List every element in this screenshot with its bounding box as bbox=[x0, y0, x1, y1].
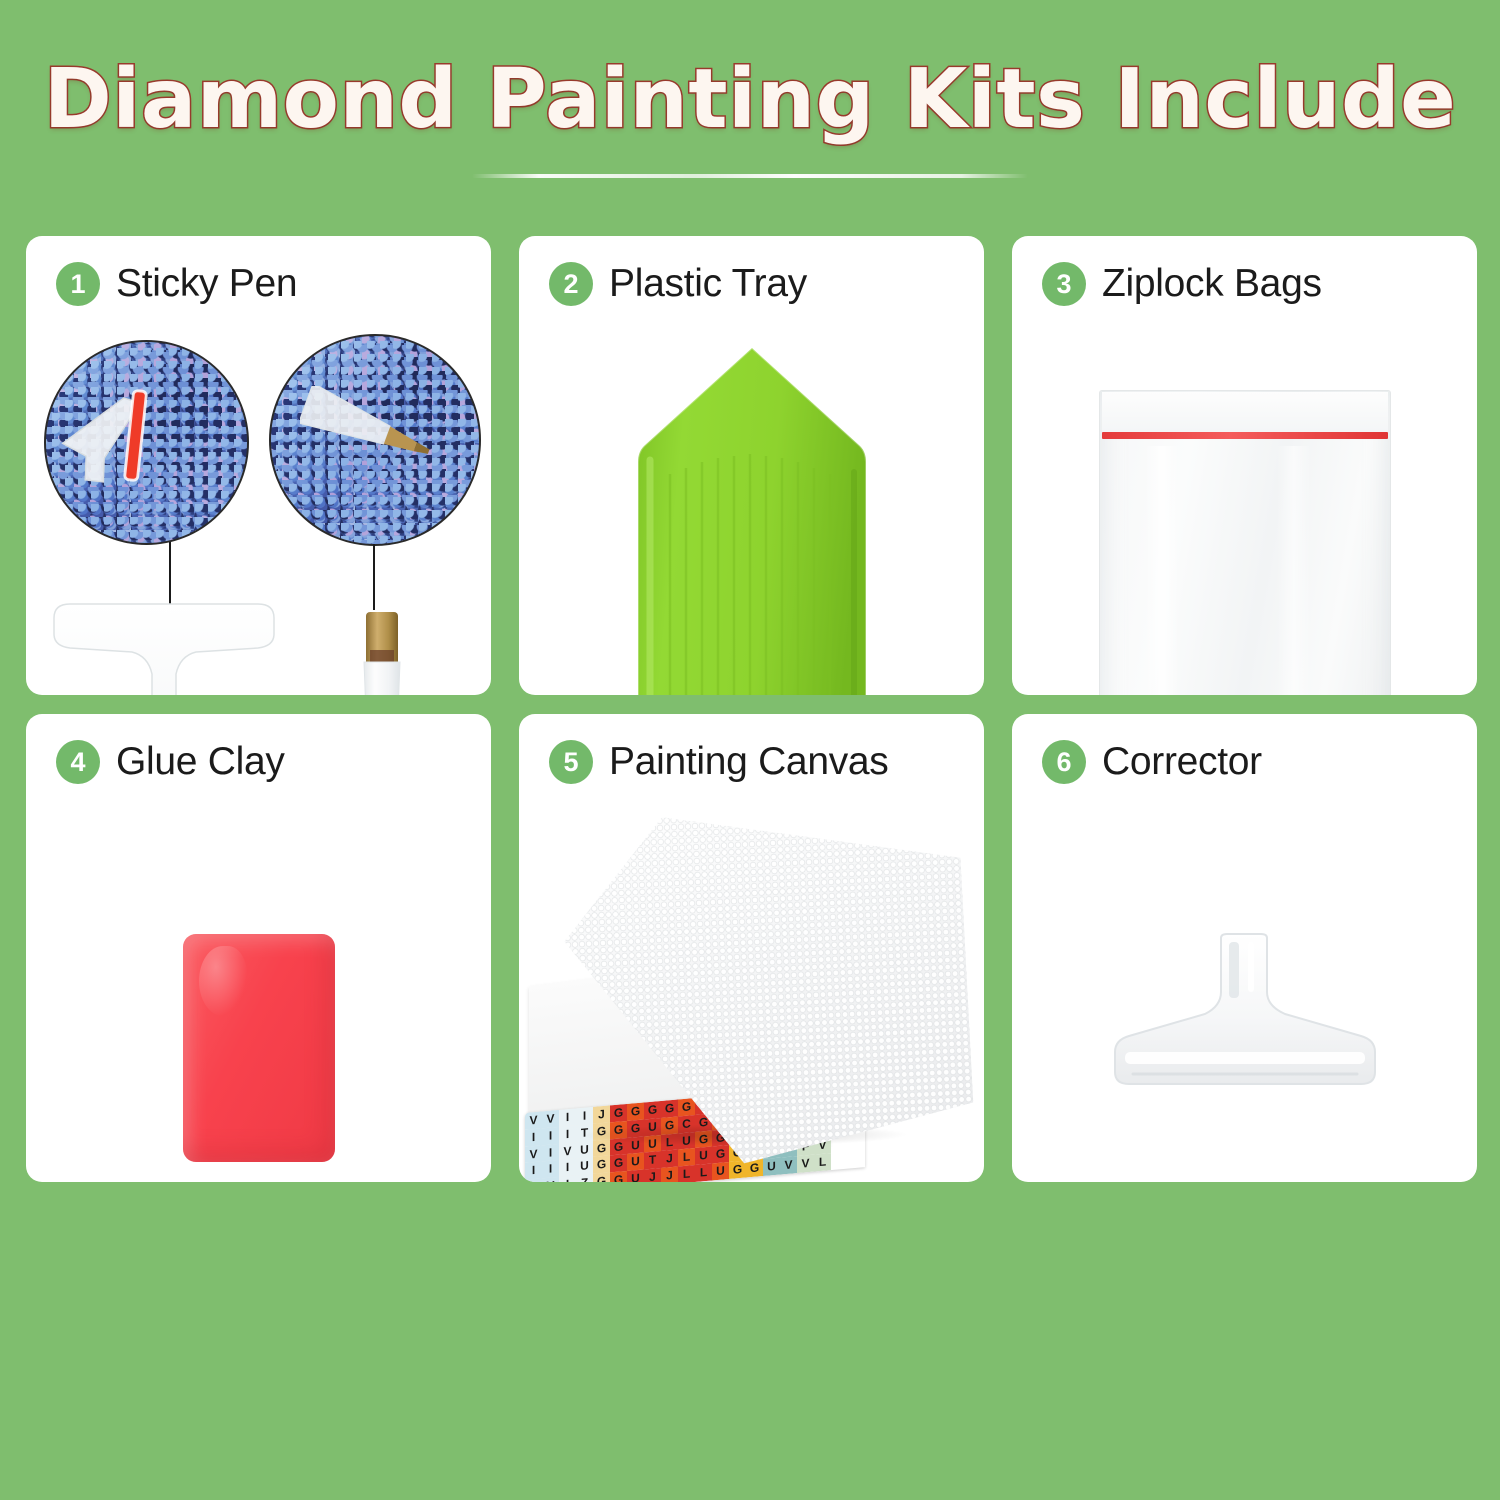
symbol-grid-cell: G bbox=[610, 1171, 627, 1182]
symbol-grid-cell: U bbox=[576, 1157, 593, 1175]
symbol-grid-cell: G bbox=[593, 1156, 610, 1174]
card-number-badge: 4 bbox=[56, 740, 100, 784]
card-header: 2 Plastic Tray bbox=[549, 262, 807, 306]
symbol-grid-cell: J bbox=[593, 1105, 610, 1123]
symbol-grid-cell: T bbox=[644, 1151, 661, 1169]
card-label: Corrector bbox=[1102, 740, 1262, 784]
kit-card-glue-clay[interactable]: 4 Glue Clay bbox=[26, 714, 491, 1182]
symbol-grid-cell: G bbox=[729, 1161, 746, 1179]
header: Diamond Painting Kits Include bbox=[0, 0, 1500, 212]
symbol-grid-cell: L bbox=[678, 1165, 695, 1182]
bag-sheen bbox=[1145, 446, 1179, 695]
leader-line bbox=[169, 542, 171, 604]
card-header: 6 Corrector bbox=[1042, 740, 1262, 784]
symbol-grid-cell: G bbox=[610, 1154, 627, 1172]
symbol-grid-cell: J bbox=[661, 1150, 678, 1168]
card-number-badge: 6 bbox=[1042, 740, 1086, 784]
card-label: Sticky Pen bbox=[116, 262, 297, 306]
plastic-tray-icon bbox=[614, 342, 890, 695]
magnifier-corrector-icon bbox=[44, 340, 249, 545]
symbol-grid-cell: I bbox=[576, 1107, 593, 1125]
card-label: Glue Clay bbox=[116, 740, 285, 784]
card-header: 5 Painting Canvas bbox=[549, 740, 889, 784]
card-number-badge: 1 bbox=[56, 262, 100, 306]
symbol-grid-cell: J bbox=[661, 1167, 678, 1182]
kit-card-sticky-pen[interactable]: 1 Sticky Pen bbox=[26, 236, 491, 695]
kit-card-plastic-tray[interactable]: 2 Plastic Tray bbox=[519, 236, 984, 695]
bag-zip-seal bbox=[1102, 432, 1388, 439]
symbol-grid-cell: I bbox=[559, 1108, 576, 1126]
card-label: Painting Canvas bbox=[609, 740, 889, 784]
corrector-tool-closeup-icon bbox=[58, 386, 203, 499]
symbol-grid-cell: G bbox=[678, 1098, 695, 1116]
symbol-grid-cell: I bbox=[525, 1179, 542, 1182]
card-header: 1 Sticky Pen bbox=[56, 262, 297, 306]
symbol-grid-cell: U bbox=[695, 1147, 712, 1165]
glue-clay-illustration bbox=[26, 806, 491, 1182]
bag-lip bbox=[1102, 392, 1388, 432]
symbol-grid-cell: I bbox=[542, 1127, 559, 1145]
title-divider bbox=[472, 174, 1028, 178]
symbol-grid-cell: I bbox=[525, 1128, 542, 1146]
symbol-grid-cell: G bbox=[627, 1102, 644, 1120]
kit-card-painting-canvas[interactable]: 5 Painting Canvas VVIIJGGGGGGCGGGGVVIIIT… bbox=[519, 714, 984, 1182]
symbol-grid-cell: U bbox=[627, 1153, 644, 1171]
card-number-badge: 5 bbox=[549, 740, 593, 784]
magnifier-pen-tip-icon bbox=[269, 334, 481, 546]
symbol-grid-cell: I bbox=[559, 1176, 576, 1182]
card-header: 4 Glue Clay bbox=[56, 740, 285, 784]
card-label: Plastic Tray bbox=[609, 262, 807, 306]
sticky-placer-tool-icon bbox=[44, 600, 284, 695]
corrector-tool-icon bbox=[1109, 932, 1381, 1102]
symbol-grid-cell: L bbox=[695, 1164, 712, 1182]
card-number-badge: 3 bbox=[1042, 262, 1086, 306]
symbol-grid-cell: Z bbox=[576, 1174, 593, 1182]
symbol-grid-cell: G bbox=[593, 1173, 610, 1182]
symbol-grid-cell: I bbox=[559, 1125, 576, 1143]
glue-clay-icon bbox=[183, 934, 335, 1162]
kit-card-corrector[interactable]: 6 Corrector bbox=[1012, 714, 1477, 1182]
symbol-grid-cell: G bbox=[712, 1145, 729, 1163]
symbol-grid-cell: J bbox=[644, 1168, 661, 1182]
painting-canvas-illustration: VVIIJGGGGGGCGGGGVVIIITGGGUGCGGGJITVVVIVU… bbox=[519, 806, 984, 1182]
symbol-grid-cell: V bbox=[797, 1155, 814, 1173]
symbol-grid-cell: I bbox=[525, 1162, 542, 1180]
symbol-grid-cell: I bbox=[559, 1159, 576, 1177]
pen-tip-closeup-icon bbox=[300, 386, 441, 478]
symbol-grid-cell: U bbox=[763, 1158, 780, 1176]
page-title: Diamond Painting Kits Include bbox=[0, 52, 1500, 147]
sticky-pen-illustration bbox=[26, 328, 491, 695]
symbol-grid-cell: I bbox=[542, 1143, 559, 1161]
corrector-illustration bbox=[1012, 806, 1477, 1182]
card-label: Ziplock Bags bbox=[1102, 262, 1322, 306]
symbol-grid-cell: L bbox=[814, 1153, 831, 1171]
ziplock-bag-icon bbox=[1099, 390, 1391, 695]
card-number-badge: 2 bbox=[549, 262, 593, 306]
symbol-grid-cell: U bbox=[712, 1162, 729, 1180]
symbol-grid-cell: V bbox=[525, 1145, 542, 1163]
leader-line bbox=[373, 544, 375, 610]
symbol-grid-cell: L bbox=[678, 1148, 695, 1166]
card-header: 3 Ziplock Bags bbox=[1042, 262, 1322, 306]
kit-card-ziplock-bags[interactable]: 3 Ziplock Bags bbox=[1012, 236, 1477, 695]
symbol-grid-cell: V bbox=[525, 1111, 542, 1129]
clay-highlight bbox=[199, 946, 247, 1016]
sticky-pen-tool-icon bbox=[326, 604, 438, 695]
symbol-grid-cell: V bbox=[780, 1156, 797, 1174]
symbol-grid-cell: V bbox=[542, 1177, 559, 1182]
ziplock-bag-illustration bbox=[1012, 328, 1477, 695]
symbol-grid-cell: V bbox=[542, 1110, 559, 1128]
kit-items-grid: 1 Sticky Pen bbox=[26, 236, 1477, 1444]
symbol-grid-cell: U bbox=[627, 1170, 644, 1182]
symbol-grid-cell: I bbox=[542, 1160, 559, 1178]
symbol-grid-cell: G bbox=[610, 1104, 627, 1122]
symbol-grid-cell: G bbox=[644, 1101, 661, 1119]
plastic-tray-illustration bbox=[519, 328, 984, 695]
symbol-grid-cell: G bbox=[661, 1099, 678, 1117]
bag-sheen bbox=[1277, 446, 1311, 695]
